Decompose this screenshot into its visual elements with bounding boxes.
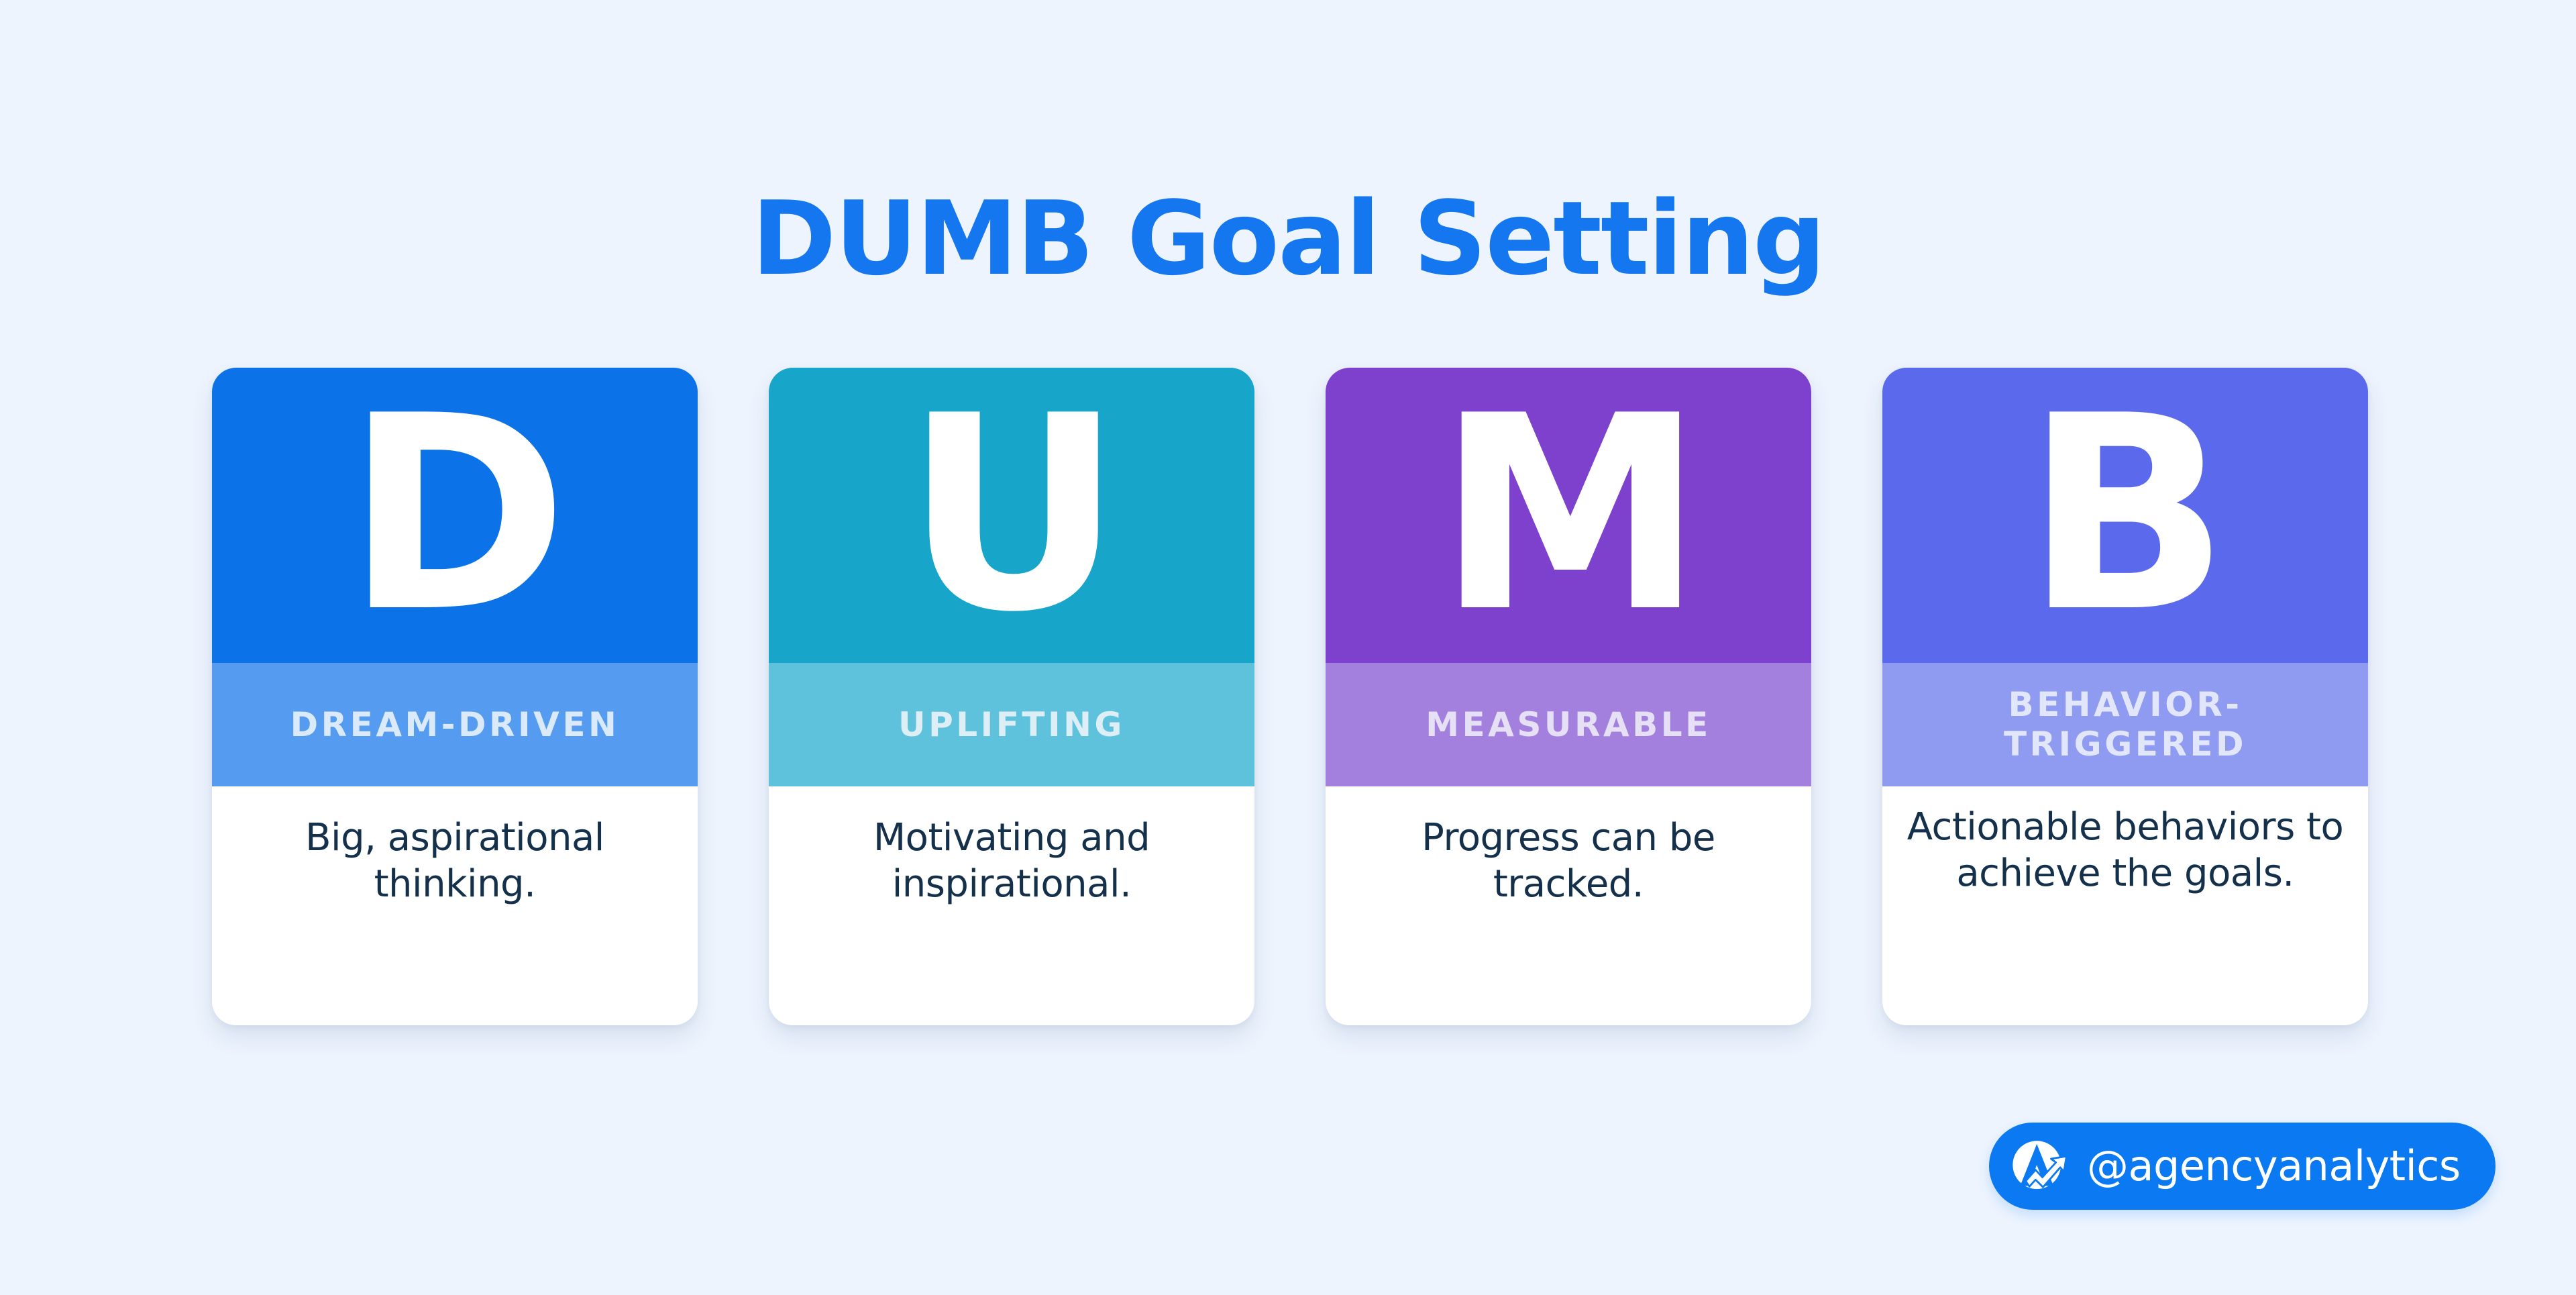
- card-behavior-triggered[interactable]: B BEHAVIOR-TRIGGERED Actionable behavior…: [1882, 368, 2368, 1025]
- card-label-band: MEASURABLE: [1326, 663, 1811, 786]
- card-label-band: UPLIFTING: [769, 663, 1254, 786]
- card-description-area: Big, aspirational thinking.: [212, 786, 698, 1025]
- card-label-text: MEASURABLE: [1426, 705, 1711, 745]
- card-letter-text: B: [2025, 381, 2226, 650]
- card-description-area: Actionable behaviors to achieve the goal…: [1882, 786, 2368, 1025]
- page-title: DUMB Goal Setting: [0, 188, 2576, 290]
- agencyanalytics-logo-icon: [2008, 1135, 2070, 1197]
- card-label-band: DREAM-DRIVEN: [212, 663, 698, 786]
- card-letter-badge: B: [1882, 368, 2368, 663]
- card-label-text: DREAM-DRIVEN: [290, 705, 620, 745]
- card-label-text: BEHAVIOR-TRIGGERED: [1897, 685, 2353, 764]
- card-description-text: Progress can be tracked.: [1343, 815, 1794, 908]
- card-letter-text: U: [905, 381, 1119, 650]
- card-dream-driven[interactable]: D DREAM-DRIVEN Big, aspirational thinkin…: [212, 368, 698, 1025]
- card-letter-text: D: [345, 381, 564, 650]
- card-description-area: Motivating and inspirational.: [769, 786, 1254, 1025]
- card-letter-badge: M: [1326, 368, 1811, 663]
- infographic-canvas: DUMB Goal Setting D DREAM-DRIVEN Big, as…: [0, 0, 2576, 1295]
- card-description-text: Actionable behaviors to achieve the goal…: [1900, 804, 2351, 897]
- social-handle-text: @agencyanalytics: [2087, 1145, 2461, 1187]
- card-letter-badge: U: [769, 368, 1254, 663]
- card-label-text: UPLIFTING: [898, 705, 1125, 745]
- card-description-area: Progress can be tracked.: [1326, 786, 1811, 1025]
- dumb-card-row: D DREAM-DRIVEN Big, aspirational thinkin…: [212, 368, 2368, 1025]
- card-letter-badge: D: [212, 368, 698, 663]
- card-description-text: Big, aspirational thinking.: [229, 815, 680, 908]
- social-handle-badge[interactable]: @agencyanalytics: [1989, 1123, 2495, 1210]
- card-uplifting[interactable]: U UPLIFTING Motivating and inspirational…: [769, 368, 1254, 1025]
- card-letter-text: M: [1437, 381, 1700, 650]
- card-label-band: BEHAVIOR-TRIGGERED: [1882, 663, 2368, 786]
- card-description-text: Motivating and inspirational.: [786, 815, 1237, 908]
- card-measurable[interactable]: M MEASURABLE Progress can be tracked.: [1326, 368, 1811, 1025]
